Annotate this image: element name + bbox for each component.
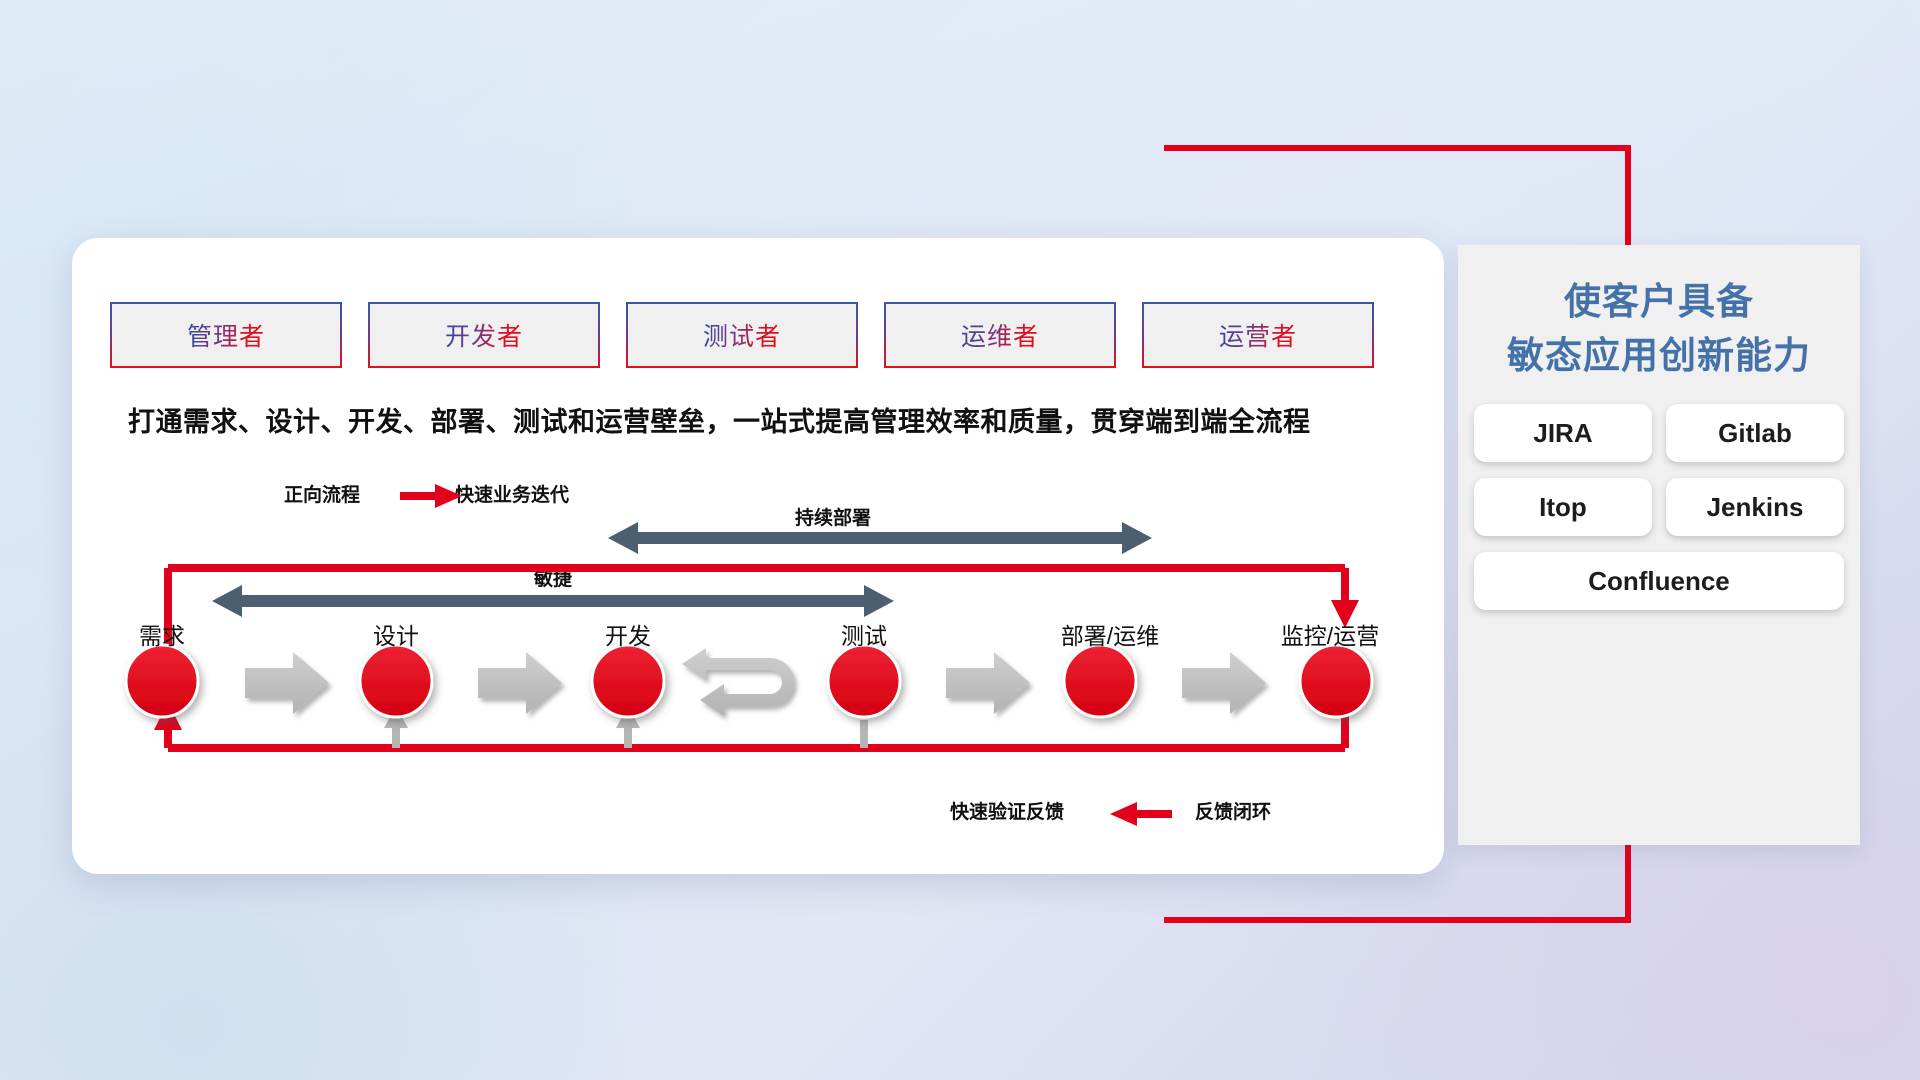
annotation-forward-process: 正向流程 — [284, 480, 360, 507]
panel-title-line2: 敏态应用创新能力 — [1458, 329, 1860, 383]
role-label: 测试者 — [703, 317, 781, 353]
stage-label-design: 设计 — [373, 617, 419, 651]
stage-label-deploy-ops: 部署/运维 — [1061, 617, 1159, 651]
role-label: 开发者 — [445, 317, 523, 353]
role-box-manager[interactable]: 管理者 — [110, 302, 342, 368]
annotation-fast-validation: 快速验证反馈 — [950, 797, 1064, 824]
capability-panel: 使客户具备 敏态应用创新能力 JIRA Gitlab Itop Jenkins … — [1458, 245, 1860, 845]
role-box-row: 管理者 开发者 测试者 运维者 运营者 — [110, 302, 1374, 368]
annotation-continuous-deploy: 持续部署 — [795, 503, 871, 530]
role-label: 运营者 — [1219, 317, 1297, 353]
headline-text: 打通需求、设计、开发、部署、测试和运营壁垒，一站式提高管理效率和质量，贯穿端到端… — [128, 400, 1428, 439]
tool-button-confluence[interactable]: Confluence — [1474, 552, 1844, 610]
role-label: 运维者 — [961, 317, 1039, 353]
stage-label-requirement: 需求 — [139, 617, 185, 651]
tool-button-jira[interactable]: JIRA — [1474, 404, 1652, 462]
stage-label-development: 开发 — [605, 617, 651, 651]
tool-button-gitlab[interactable]: Gitlab — [1666, 404, 1844, 462]
tool-list: JIRA Gitlab Itop Jenkins Confluence — [1472, 404, 1846, 610]
stage-label-monitor-operations: 监控/运营 — [1281, 617, 1379, 651]
role-box-developer[interactable]: 开发者 — [368, 302, 600, 368]
role-box-ops[interactable]: 运维者 — [884, 302, 1116, 368]
annotation-agile: 敏捷 — [534, 564, 572, 591]
annotation-fast-iteration: 快速业务迭代 — [455, 480, 569, 507]
panel-title: 使客户具备 敏态应用创新能力 — [1458, 275, 1860, 382]
role-label: 管理者 — [187, 317, 265, 353]
tool-button-itop[interactable]: Itop — [1474, 478, 1652, 536]
stage-label-testing: 测试 — [841, 617, 887, 651]
annotation-feedback-loop: 反馈闭环 — [1195, 797, 1271, 824]
tool-button-jenkins[interactable]: Jenkins — [1666, 478, 1844, 536]
role-box-operations[interactable]: 运营者 — [1142, 302, 1374, 368]
panel-title-line1: 使客户具备 — [1458, 275, 1860, 329]
role-box-tester[interactable]: 测试者 — [626, 302, 858, 368]
